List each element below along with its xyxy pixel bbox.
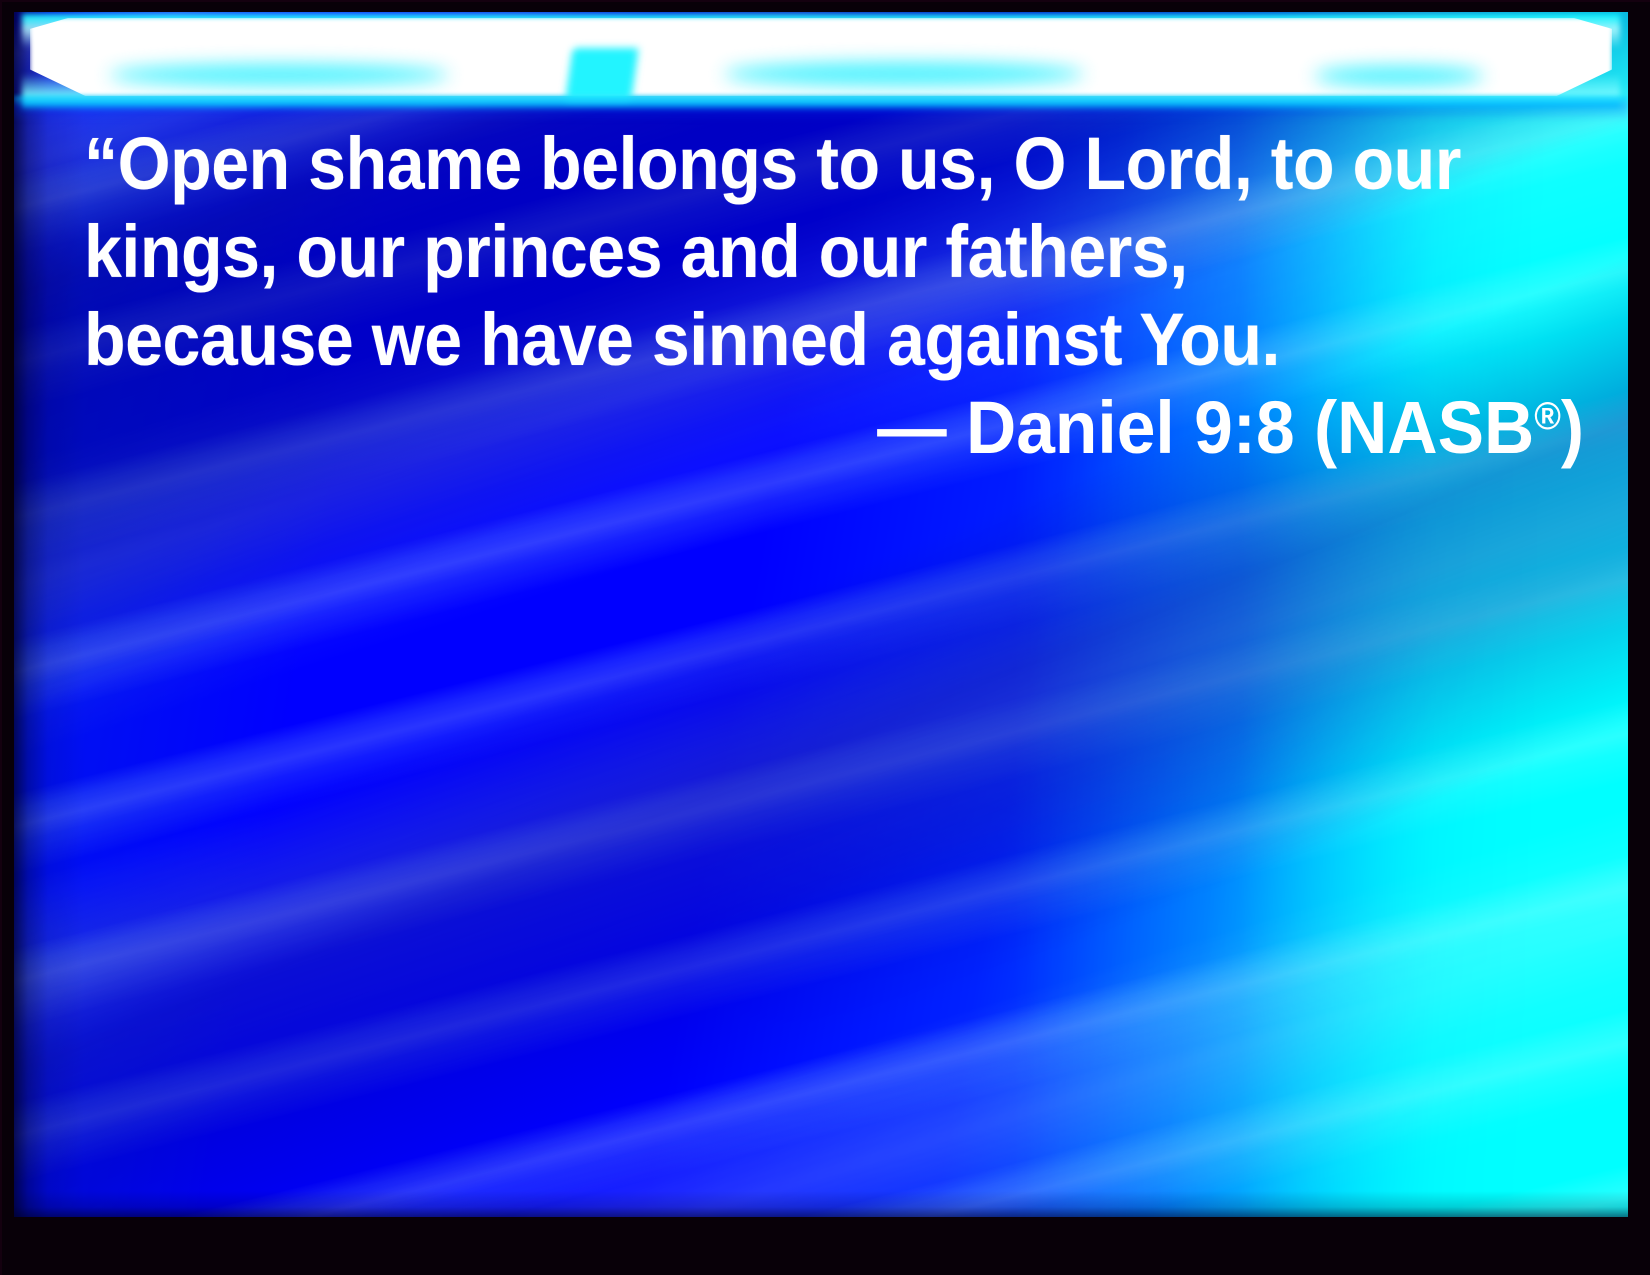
attribution-open-paren: ( [1314,386,1337,469]
verse-text-block: “Open shame belongs to us, O Lord, to ou… [84,120,1584,384]
attribution-close-paren: ) [1561,386,1584,469]
verse-attribution-inner: — Daniel 9:8 (NASB®) [877,384,1584,472]
registered-trademark-icon: ® [1534,395,1561,438]
attribution-reference: 9:8 [1194,386,1295,469]
slide-canvas: “Open shame belongs to us, O Lord, to ou… [14,12,1628,1217]
slide-frame: “Open shame belongs to us, O Lord, to ou… [0,0,1650,1275]
verse-line-3: because we have sinned against You. [84,296,1464,384]
verse-line-2: kings, our princes and our fathers, [84,208,1464,296]
attribution-book: Daniel [966,386,1175,469]
attribution-translation: NASB [1337,386,1534,469]
verse-line-1: “Open shame belongs to us, O Lord, to ou… [84,120,1464,208]
attribution-em-dash: — [877,386,947,469]
verse-attribution: — Daniel 9:8 (NASB®) [84,384,1584,472]
